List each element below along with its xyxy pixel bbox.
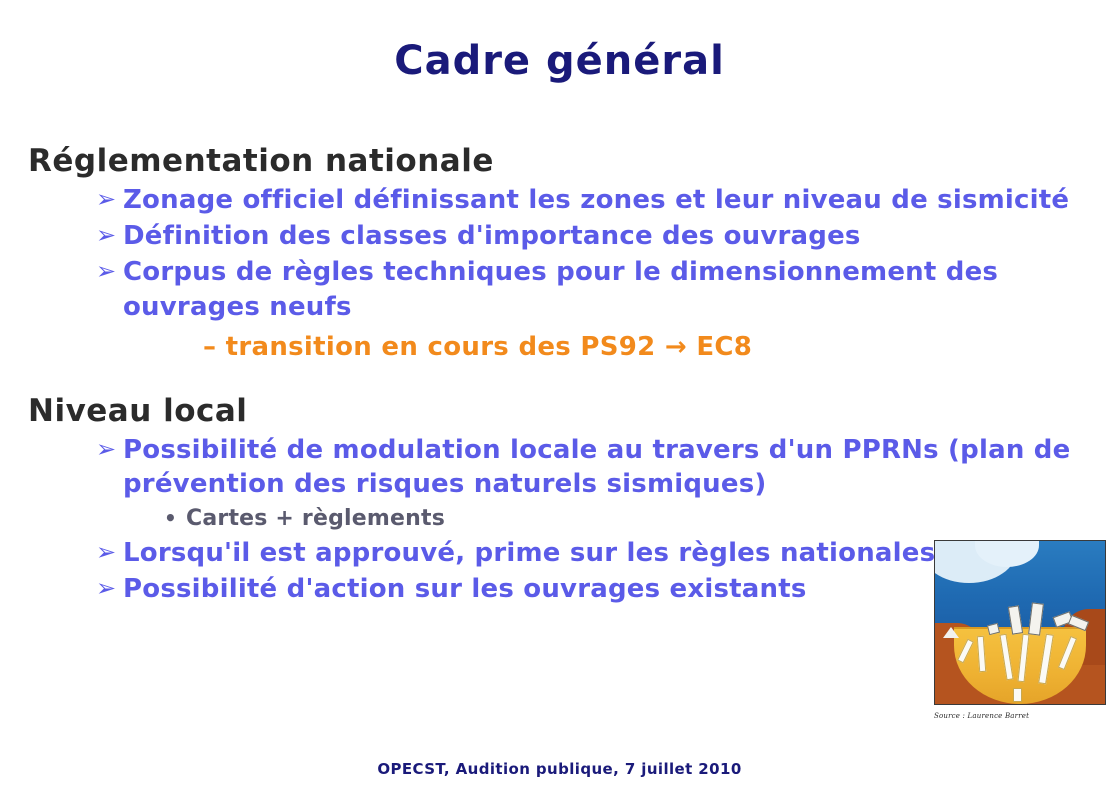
wave-arrow-icon (1013, 688, 1022, 702)
list-item-label: Cartes + règlements (186, 506, 445, 531)
list-item-label: Zonage officiel définissant les zones et… (123, 185, 1069, 215)
arrow-bullet-icon: ➢ (96, 219, 116, 252)
dot-bullet-icon: • (164, 504, 177, 532)
section-heading: Réglementation nationale (28, 144, 1093, 179)
figure-caption: Source : Laurence Barret (934, 712, 1108, 720)
seismic-basin-figure: Source : Laurence Barret (934, 540, 1108, 720)
arrow-bullet-icon: ➢ (96, 255, 116, 288)
list-item: ➢ Corpus de règles techniques pour le di… (28, 255, 1093, 324)
slide-body: Réglementation nationale ➢ Zonage offici… (28, 144, 1093, 609)
section-heading: Niveau local (28, 394, 1093, 429)
list-item: ➢ Possibilité de modulation locale au tr… (28, 433, 1093, 502)
highlight-transition-note: – transition en cours des PS92 → EC8 (28, 332, 1093, 362)
arrow-bullet-icon: ➢ (96, 433, 116, 466)
list-item-label: Possibilité d'action sur les ouvrages ex… (123, 574, 807, 604)
list-item-label: Définition des classes d'importance des … (123, 221, 861, 251)
list-item: ➢ Zonage officiel définissant les zones … (28, 183, 1093, 217)
bullet-list-level1: ➢ Zonage officiel définissant les zones … (28, 183, 1093, 324)
section-reglementation-nationale: Réglementation nationale ➢ Zonage offici… (28, 144, 1093, 362)
arrow-bullet-icon: ➢ (96, 183, 116, 216)
list-item: • Cartes + règlements (28, 505, 1093, 534)
arrow-bullet-icon: ➢ (96, 572, 116, 605)
section-spacer (28, 362, 1093, 394)
slide-canvas: Cadre général Réglementation nationale ➢… (0, 0, 1119, 791)
figure-image (934, 540, 1106, 705)
page-title: Cadre général (0, 38, 1119, 84)
bullet-list-level1: ➢ Possibilité de modulation locale au tr… (28, 433, 1093, 502)
house-icon (943, 627, 959, 638)
list-item-label: Possibilité de modulation locale au trav… (123, 435, 1070, 499)
list-item: ➢ Définition des classes d'importance de… (28, 219, 1093, 253)
bullet-list-level2: • Cartes + règlements (28, 505, 1093, 534)
list-item-label: Lorsqu'il est approuvé, prime sur les rè… (123, 538, 935, 568)
slide-footer: OPECST, Audition publique, 7 juillet 201… (0, 760, 1119, 778)
arrow-bullet-icon: ➢ (96, 536, 116, 569)
list-item-label: Corpus de règles techniques pour le dime… (123, 257, 998, 321)
